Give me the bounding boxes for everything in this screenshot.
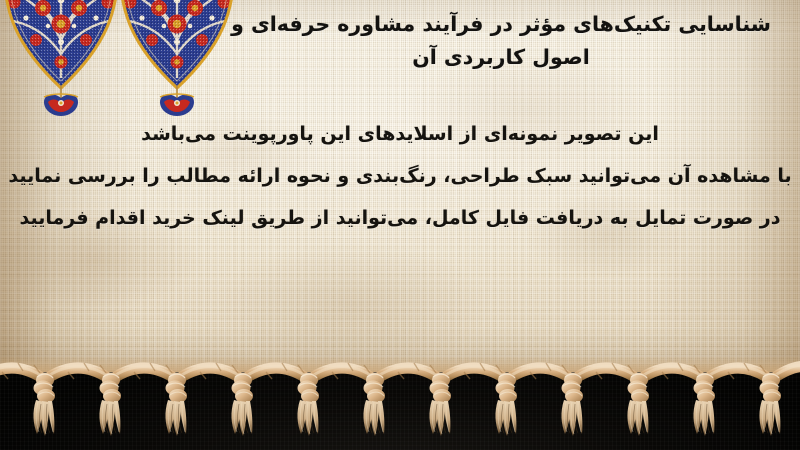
- rope-tassel-fringe: [0, 350, 800, 450]
- slide-title: شناسایی تکنیک‌های مؤثر در فرآیند مشاوره …: [212, 8, 790, 74]
- body-line-3: در صورت تمایل به دریافت فایل کامل، می‌تو…: [0, 197, 800, 239]
- body-line-2: با مشاهده آن می‌توانید سبک طراحی، رنگ‌بن…: [0, 155, 800, 197]
- slide-body: این تصویر نمونه‌ای از اسلایدهای این پاور…: [0, 113, 800, 239]
- slide-canvas: شناسایی تکنیک‌های مؤثر در فرآیند مشاوره …: [0, 0, 800, 450]
- slide-text-area: شناسایی تکنیک‌های مؤثر در فرآیند مشاوره …: [0, 0, 800, 392]
- body-line-1: این تصویر نمونه‌ای از اسلایدهای این پاور…: [0, 113, 800, 155]
